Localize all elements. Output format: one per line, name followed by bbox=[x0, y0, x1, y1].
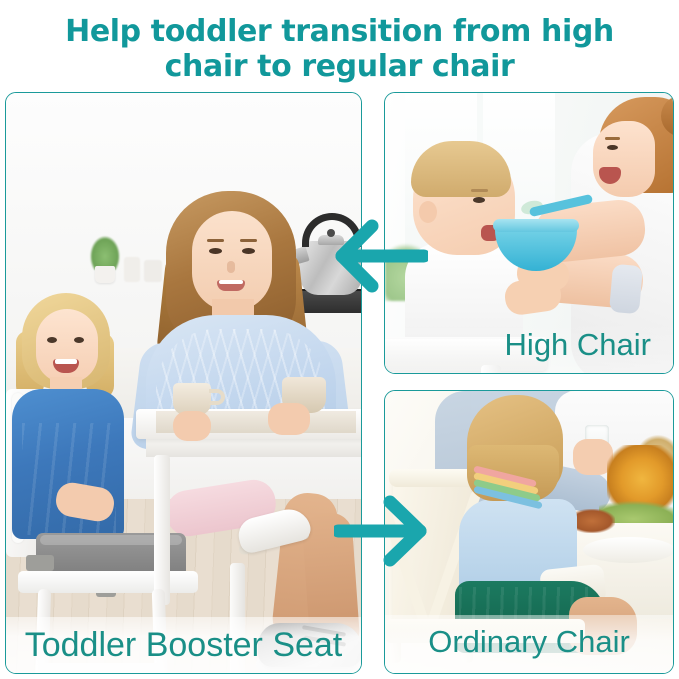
caption-toddler-booster-seat: Toddler Booster Seat bbox=[6, 617, 361, 673]
page-title-line-2: chair to regular chair bbox=[0, 49, 679, 84]
booster-strap bbox=[26, 555, 54, 571]
infographic-root: Help toddler transition from high chair … bbox=[0, 0, 679, 679]
potted-plant-decor bbox=[90, 236, 120, 270]
caption-high-chair: High Chair bbox=[385, 323, 673, 373]
panel-toddler-booster-seat[interactable]: Toddler Booster Seat bbox=[5, 92, 362, 674]
page-title-line-1: Help toddler transition from high bbox=[0, 14, 679, 49]
scene-booster-seat-photo bbox=[6, 93, 361, 673]
mother-face bbox=[593, 121, 655, 197]
caption-ordinary-chair: Ordinary Chair bbox=[385, 615, 673, 673]
page-title: Help toddler transition from high chair … bbox=[0, 14, 679, 84]
arrow-left-icon bbox=[332, 214, 428, 298]
arrow-right-icon bbox=[334, 492, 430, 570]
